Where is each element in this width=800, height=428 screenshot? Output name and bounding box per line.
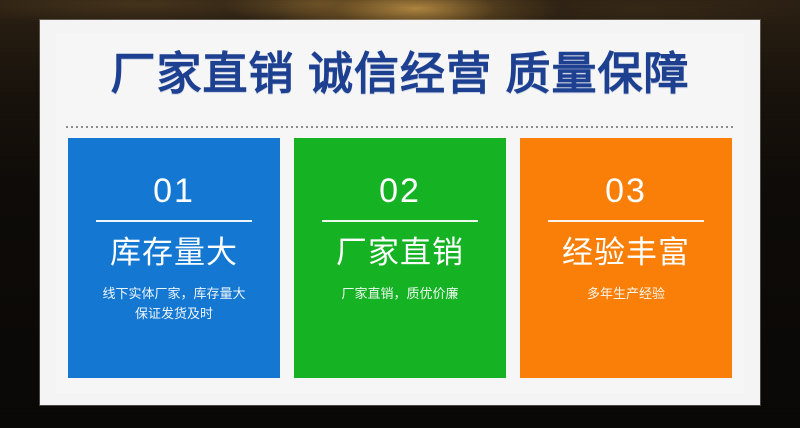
card-description-line-1: 厂家直销，质优价廉 [302, 284, 498, 304]
card-description: 多年生产经验 [528, 284, 724, 304]
feature-card-2[interactable]: 02 厂家直销 厂家直销，质优价廉 [294, 138, 506, 378]
card-title: 库存量大 [68, 234, 280, 273]
card-rule-line [548, 220, 704, 222]
card-rule-line [322, 220, 478, 222]
feature-card-1[interactable]: 01 库存量大 线下实体厂家，库存量大 保证发货及时 [68, 138, 280, 378]
dotted-divider [66, 126, 734, 128]
feature-card-row: 01 库存量大 线下实体厂家，库存量大 保证发货及时 02 厂家直销 厂家直销，… [68, 138, 732, 378]
card-description: 厂家直销，质优价廉 [302, 284, 498, 304]
page-title: 厂家直销 诚信经营 质量保障 [56, 51, 744, 96]
card-rule-line [96, 220, 252, 222]
card-description-line-2: 保证发货及时 [76, 304, 272, 324]
card-description-line-1: 多年生产经验 [528, 284, 724, 304]
white-panel: 厂家直销 诚信经营 质量保障 01 库存量大 线下实体厂家，库存量大 保证发货及… [40, 20, 760, 405]
card-title: 厂家直销 [294, 234, 506, 273]
card-number: 01 [68, 174, 280, 208]
feature-card-3[interactable]: 03 经验丰富 多年生产经验 [520, 138, 732, 378]
card-title: 经验丰富 [520, 234, 732, 273]
card-number: 03 [520, 174, 732, 208]
card-description: 线下实体厂家，库存量大 保证发货及时 [76, 284, 272, 324]
panel-content: 厂家直销 诚信经营 质量保障 01 库存量大 线下实体厂家，库存量大 保证发货及… [56, 33, 744, 393]
card-number: 02 [294, 174, 506, 208]
card-description-line-1: 线下实体厂家，库存量大 [76, 284, 272, 304]
